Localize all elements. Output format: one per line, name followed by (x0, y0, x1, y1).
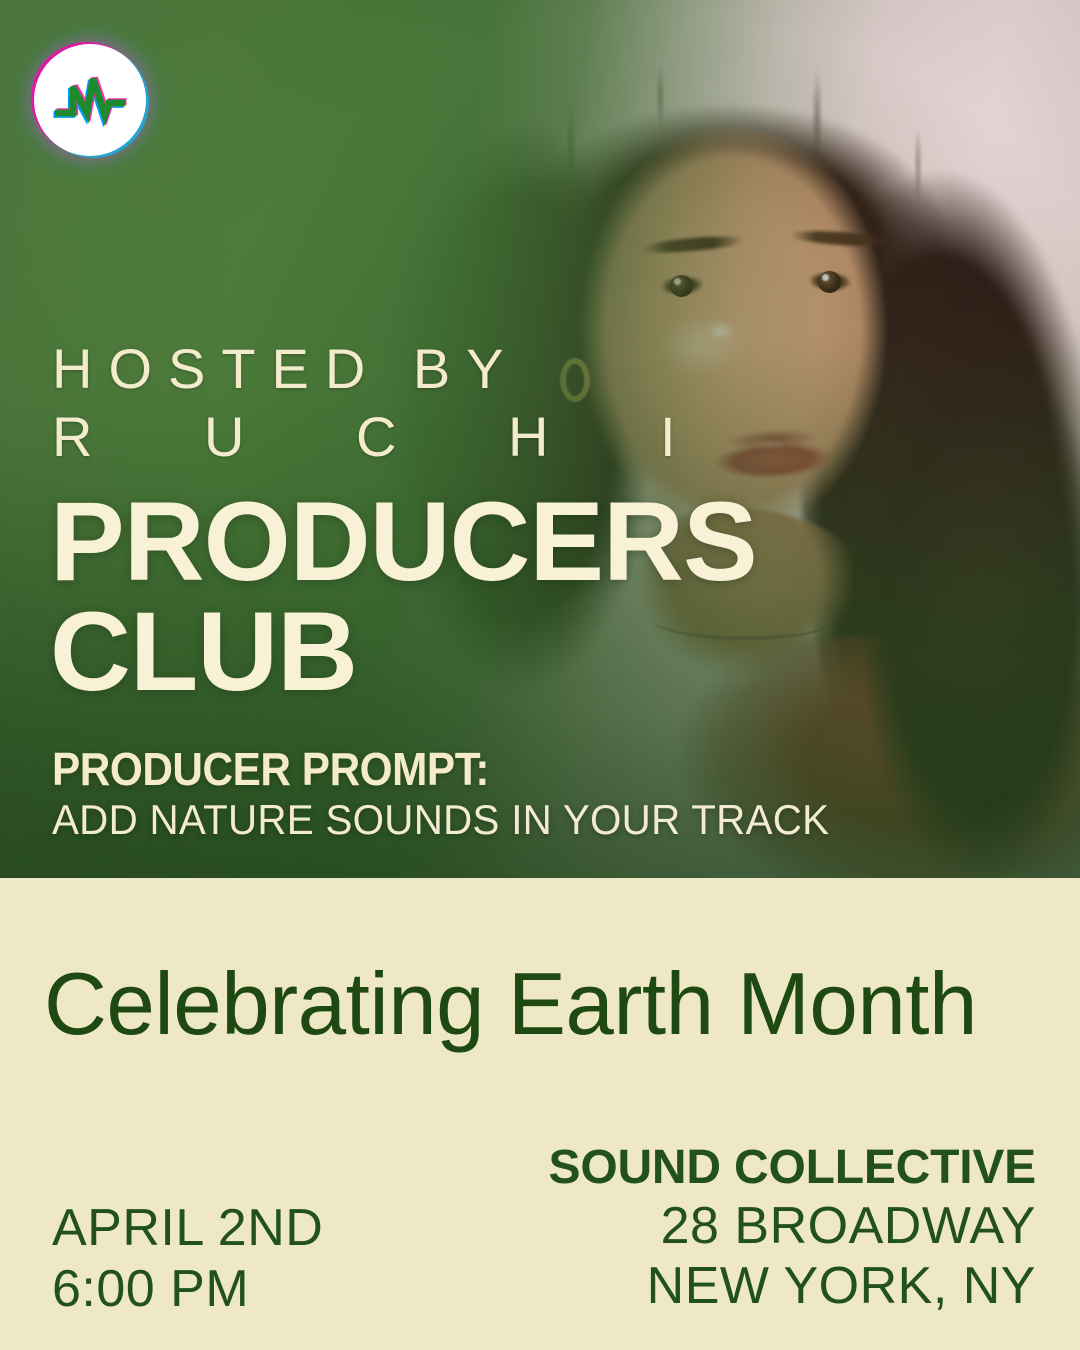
venue-city: NEW YORK, NY (549, 1256, 1037, 1316)
hero-section: HOSTED BY R U C H I PRODUCERS CLUB PRODU… (0, 0, 1080, 878)
venue-street: 28 BROADWAY (549, 1196, 1037, 1256)
poster-title-line-2: CLUB (50, 597, 757, 707)
event-poster: HOSTED BY R U C H I PRODUCERS CLUB PRODU… (0, 0, 1080, 1350)
hosted-by-label: HOSTED BY (52, 336, 520, 401)
brand-logo[interactable] (34, 44, 146, 156)
event-datetime: APRIL 2ND 6:00 PM (52, 1198, 323, 1320)
event-time: 6:00 PM (52, 1259, 323, 1320)
event-date: APRIL 2ND (52, 1198, 323, 1259)
poster-title-line-1: PRODUCERS (50, 479, 757, 604)
producer-prompt-text: ADD NATURE SOUNDS IN YOUR TRACK (52, 796, 829, 844)
venue-name: SOUND COLLECTIVE (549, 1140, 1037, 1196)
details-panel: Celebrating Earth Month APRIL 2ND 6:00 P… (0, 878, 1080, 1350)
event-headline: Celebrating Earth Month (44, 953, 977, 1055)
poster-title: PRODUCERS CLUB (50, 487, 757, 707)
host-name: R U C H I (52, 404, 724, 469)
event-location: SOUND COLLECTIVE 28 BROADWAY NEW YORK, N… (549, 1140, 1037, 1316)
producer-prompt-label: PRODUCER PROMPT: (52, 742, 489, 796)
